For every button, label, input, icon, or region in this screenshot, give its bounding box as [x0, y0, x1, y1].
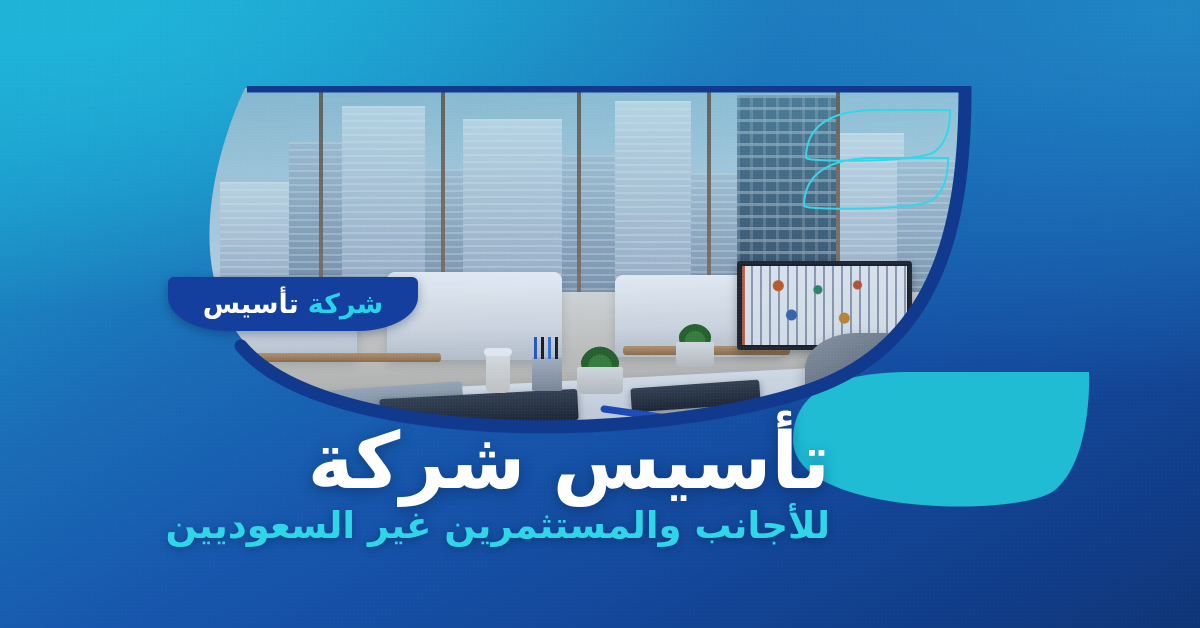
page-subtitle: للأجانب والمستثمرين غير السعوديين: [166, 507, 830, 546]
headline-block: تأسيس شركة للأجانب والمستثمرين غير السعو…: [166, 425, 830, 546]
tag-badge[interactable]: شركة تأسيس: [168, 277, 418, 331]
outline-leaf-shapes: [800, 106, 970, 212]
badge-label-white: تأسيس: [203, 291, 299, 318]
page-title: تأسيس شركة: [166, 425, 830, 499]
solid-teal-leaf: [793, 366, 1093, 518]
promo-banner: شركة تأسيس تأسيس شركة للأجانب والمستثمري…: [0, 0, 1200, 628]
badge-label-cyan: شركة: [308, 291, 383, 318]
